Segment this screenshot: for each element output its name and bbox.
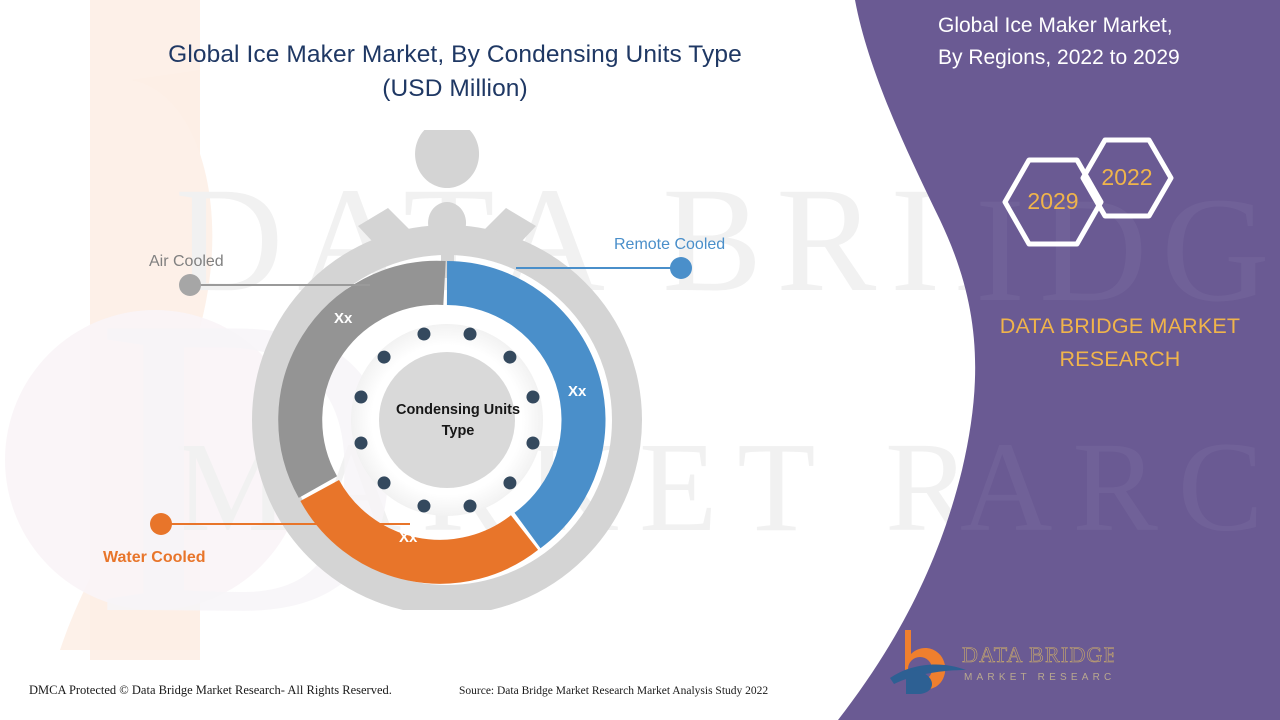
slice-value-remote-cooled: Xx: [568, 383, 586, 400]
logo-wordmark-secondary: MARKET RESEARCH: [964, 672, 1114, 683]
brand-name-line2: RESEARCH: [960, 343, 1280, 376]
svg-text:ARCH: ARCH: [960, 416, 1280, 558]
donut-center-label: Condensing Units Type: [380, 400, 536, 442]
logo-swoosh: [890, 664, 966, 694]
donut-center-line2: Type: [380, 421, 536, 442]
regions-panel-title: Global Ice Maker Market, By Regions, 202…: [938, 10, 1278, 74]
hexagon-2022[interactable]: 2022: [1083, 140, 1171, 216]
data-bridge-logo: DATA BRIDGE MARKET RESEARCH: [884, 624, 1114, 694]
chart-title-line1: Global Ice Maker Market, By Condensing U…: [168, 41, 742, 68]
footer-source: Source: Data Bridge Market Research Mark…: [459, 685, 768, 697]
slice-value-air-cooled: Xx: [334, 310, 352, 327]
leader-dot-water-cooled: [150, 513, 172, 535]
legend-label-water-cooled[interactable]: Water Cooled: [103, 549, 206, 567]
brand-name-line1: DATA BRIDGE MARKET: [1000, 314, 1241, 338]
legend-label-air-cooled[interactable]: Air Cooled: [149, 253, 224, 271]
chart-title-line2: (USD Million): [110, 72, 800, 106]
legend-label-remote-cooled[interactable]: Remote Cooled: [614, 236, 725, 254]
slice-value-water-cooled: Xx: [399, 529, 417, 546]
donut-center-line1: Condensing Units: [396, 402, 520, 418]
brand-name-text: DATA BRIDGE MARKET RESEARCH: [960, 310, 1280, 376]
logo-wordmark-primary: DATA BRIDGE: [962, 642, 1114, 667]
condensing-units-donut-chart: [120, 130, 820, 610]
hexagon-2029-label: 2029: [1027, 188, 1078, 214]
year-hexagons: 2029 2022: [985, 130, 1195, 280]
leader-dot-remote-cooled: [670, 257, 692, 279]
leader-dot-air-cooled: [179, 274, 201, 296]
regions-panel-title-line2: By Regions, 2022 to 2029: [938, 42, 1278, 74]
footer-copyright: DMCA Protected © Data Bridge Market Rese…: [29, 683, 392, 698]
infographic-canvas: DATA BRIDGE MARKET RESEARCH D IDGE ARCH …: [0, 0, 1280, 720]
chart-title: Global Ice Maker Market, By Condensing U…: [110, 38, 800, 106]
hexagon-2022-label: 2022: [1101, 164, 1152, 190]
regions-panel-title-line1: Global Ice Maker Market,: [938, 14, 1173, 37]
